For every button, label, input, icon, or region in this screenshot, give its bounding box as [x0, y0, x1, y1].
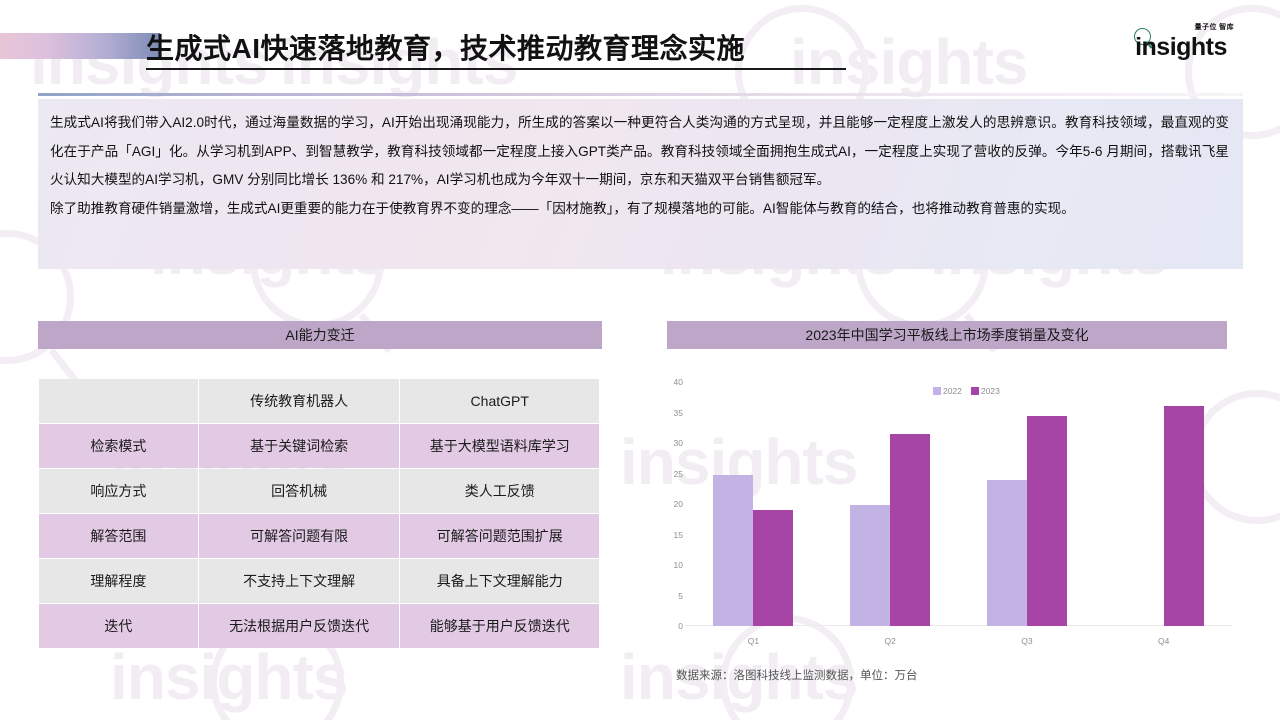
quarterly-sales-chart: 20222023 0510152025303540 Q1Q2Q3Q4	[665, 370, 1240, 660]
table-cell: 具备上下文理解能力	[400, 559, 599, 603]
table-cell: 回答机械	[199, 469, 400, 513]
table-row: 理解程度 不支持上下文理解 具备上下文理解能力	[39, 559, 599, 603]
table-cell: 响应方式	[39, 469, 198, 513]
table-cell: 理解程度	[39, 559, 198, 603]
table-header-cell: ChatGPT	[400, 379, 599, 423]
title-underline	[146, 68, 846, 70]
ai-capability-table: 传统教育机器人 ChatGPT 检索模式 基于关键词检索 基于大模型语料库学习 …	[38, 378, 600, 649]
table-cell: 基于大模型语料库学习	[400, 424, 599, 468]
chart-x-tick: Q4	[1095, 636, 1232, 646]
table-cell: 解答范围	[39, 514, 198, 558]
chart-source-note: 数据来源：洛图科技线上监测数据，单位：万台	[676, 667, 918, 683]
brand-logo-name: insights	[1126, 33, 1236, 62]
table-row: 响应方式 回答机械 类人工反馈	[39, 469, 599, 513]
table-row: 解答范围 可解答问题有限 可解答问题范围扩展	[39, 514, 599, 558]
chart-bar-group: Q2	[822, 382, 959, 626]
table-cell: 迭代	[39, 604, 198, 648]
left-panel-title: AI能力变迁	[38, 321, 602, 349]
chart-y-tick: 40	[663, 377, 683, 387]
intro-paragraph: 生成式AI将我们带入AI2.0时代，通过海量数据的学习，AI开始出现涌现能力，所…	[50, 109, 1229, 195]
chart-bar-group: Q3	[959, 382, 1096, 626]
table-cell: 不支持上下文理解	[199, 559, 400, 603]
chart-bar-2023-Q2[interactable]	[890, 434, 930, 626]
chart-bar-2022-Q1[interactable]	[713, 475, 753, 626]
chart-x-tick: Q1	[685, 636, 822, 646]
chart-legend-item-2022[interactable]: 2022	[933, 386, 962, 396]
chart-bar-2022-Q3[interactable]	[987, 480, 1027, 626]
chart-y-tick: 30	[663, 438, 683, 448]
chart-x-tick: Q2	[822, 636, 959, 646]
chart-bar-group: Q1	[685, 382, 822, 626]
chart-y-tick: 5	[663, 591, 683, 601]
table-header-row: 传统教育机器人 ChatGPT	[39, 379, 599, 423]
table-header-cell	[39, 379, 198, 423]
brand-logo-cn: 量子位 智库	[1195, 22, 1234, 32]
chart-y-tick: 20	[663, 499, 683, 509]
chart-bar-group: Q4	[1095, 382, 1232, 626]
table-cell: 类人工反馈	[400, 469, 599, 513]
table-header-cell: 传统教育机器人	[199, 379, 400, 423]
chart-plot-area: 0510152025303540 Q1Q2Q3Q4	[685, 382, 1232, 626]
title-accent-bar	[0, 33, 160, 59]
legend-label: 2023	[981, 386, 1000, 396]
chart-legend-item-2023[interactable]: 2023	[971, 386, 1000, 396]
chart-bar-2023-Q4[interactable]	[1164, 406, 1204, 626]
table-row: 检索模式 基于关键词检索 基于大模型语料库学习	[39, 424, 599, 468]
chart-bar-2023-Q1[interactable]	[753, 510, 793, 627]
chart-y-tick: 25	[663, 469, 683, 479]
chart-bar-2023-Q3[interactable]	[1027, 416, 1067, 626]
table-cell: 基于关键词检索	[199, 424, 400, 468]
brand-logo: 量子位 智库 insights	[1126, 22, 1236, 70]
legend-label: 2022	[943, 386, 962, 396]
table-cell: 检索模式	[39, 424, 198, 468]
header-divider	[38, 93, 1243, 96]
legend-swatch-icon	[971, 387, 979, 395]
intro-paragraph: 除了助推教育硬件销量激增，生成式AI更重要的能力在于使教育界不变的理念——「因材…	[50, 195, 1229, 224]
chart-bar-groups: Q1Q2Q3Q4	[685, 382, 1232, 626]
chart-y-tick: 10	[663, 560, 683, 570]
page-title: 生成式AI快速落地教育，技术推动教育理念实施	[146, 27, 745, 67]
table-cell: 可解答问题有限	[199, 514, 400, 558]
table-row: 迭代 无法根据用户反馈迭代 能够基于用户反馈迭代	[39, 604, 599, 648]
right-panel-title: 2023年中国学习平板线上市场季度销量及变化	[667, 321, 1227, 349]
chart-y-tick: 0	[663, 621, 683, 631]
legend-swatch-icon	[933, 387, 941, 395]
chart-y-tick: 15	[663, 530, 683, 540]
chart-x-tick: Q3	[959, 636, 1096, 646]
chart-bar-2022-Q2[interactable]	[850, 505, 890, 626]
table-cell: 能够基于用户反馈迭代	[400, 604, 599, 648]
intro-card: 生成式AI将我们带入AI2.0时代，通过海量数据的学习，AI开始出现涌现能力，所…	[38, 99, 1243, 269]
table-cell: 无法根据用户反馈迭代	[199, 604, 400, 648]
chart-y-tick: 35	[663, 408, 683, 418]
page-header: 生成式AI快速落地教育，技术推动教育理念实施 量子位 智库 insights	[0, 0, 1280, 95]
chart-legend: 20222023	[933, 386, 1000, 396]
watermark-text: insights	[110, 640, 347, 714]
table-cell: 可解答问题范围扩展	[400, 514, 599, 558]
